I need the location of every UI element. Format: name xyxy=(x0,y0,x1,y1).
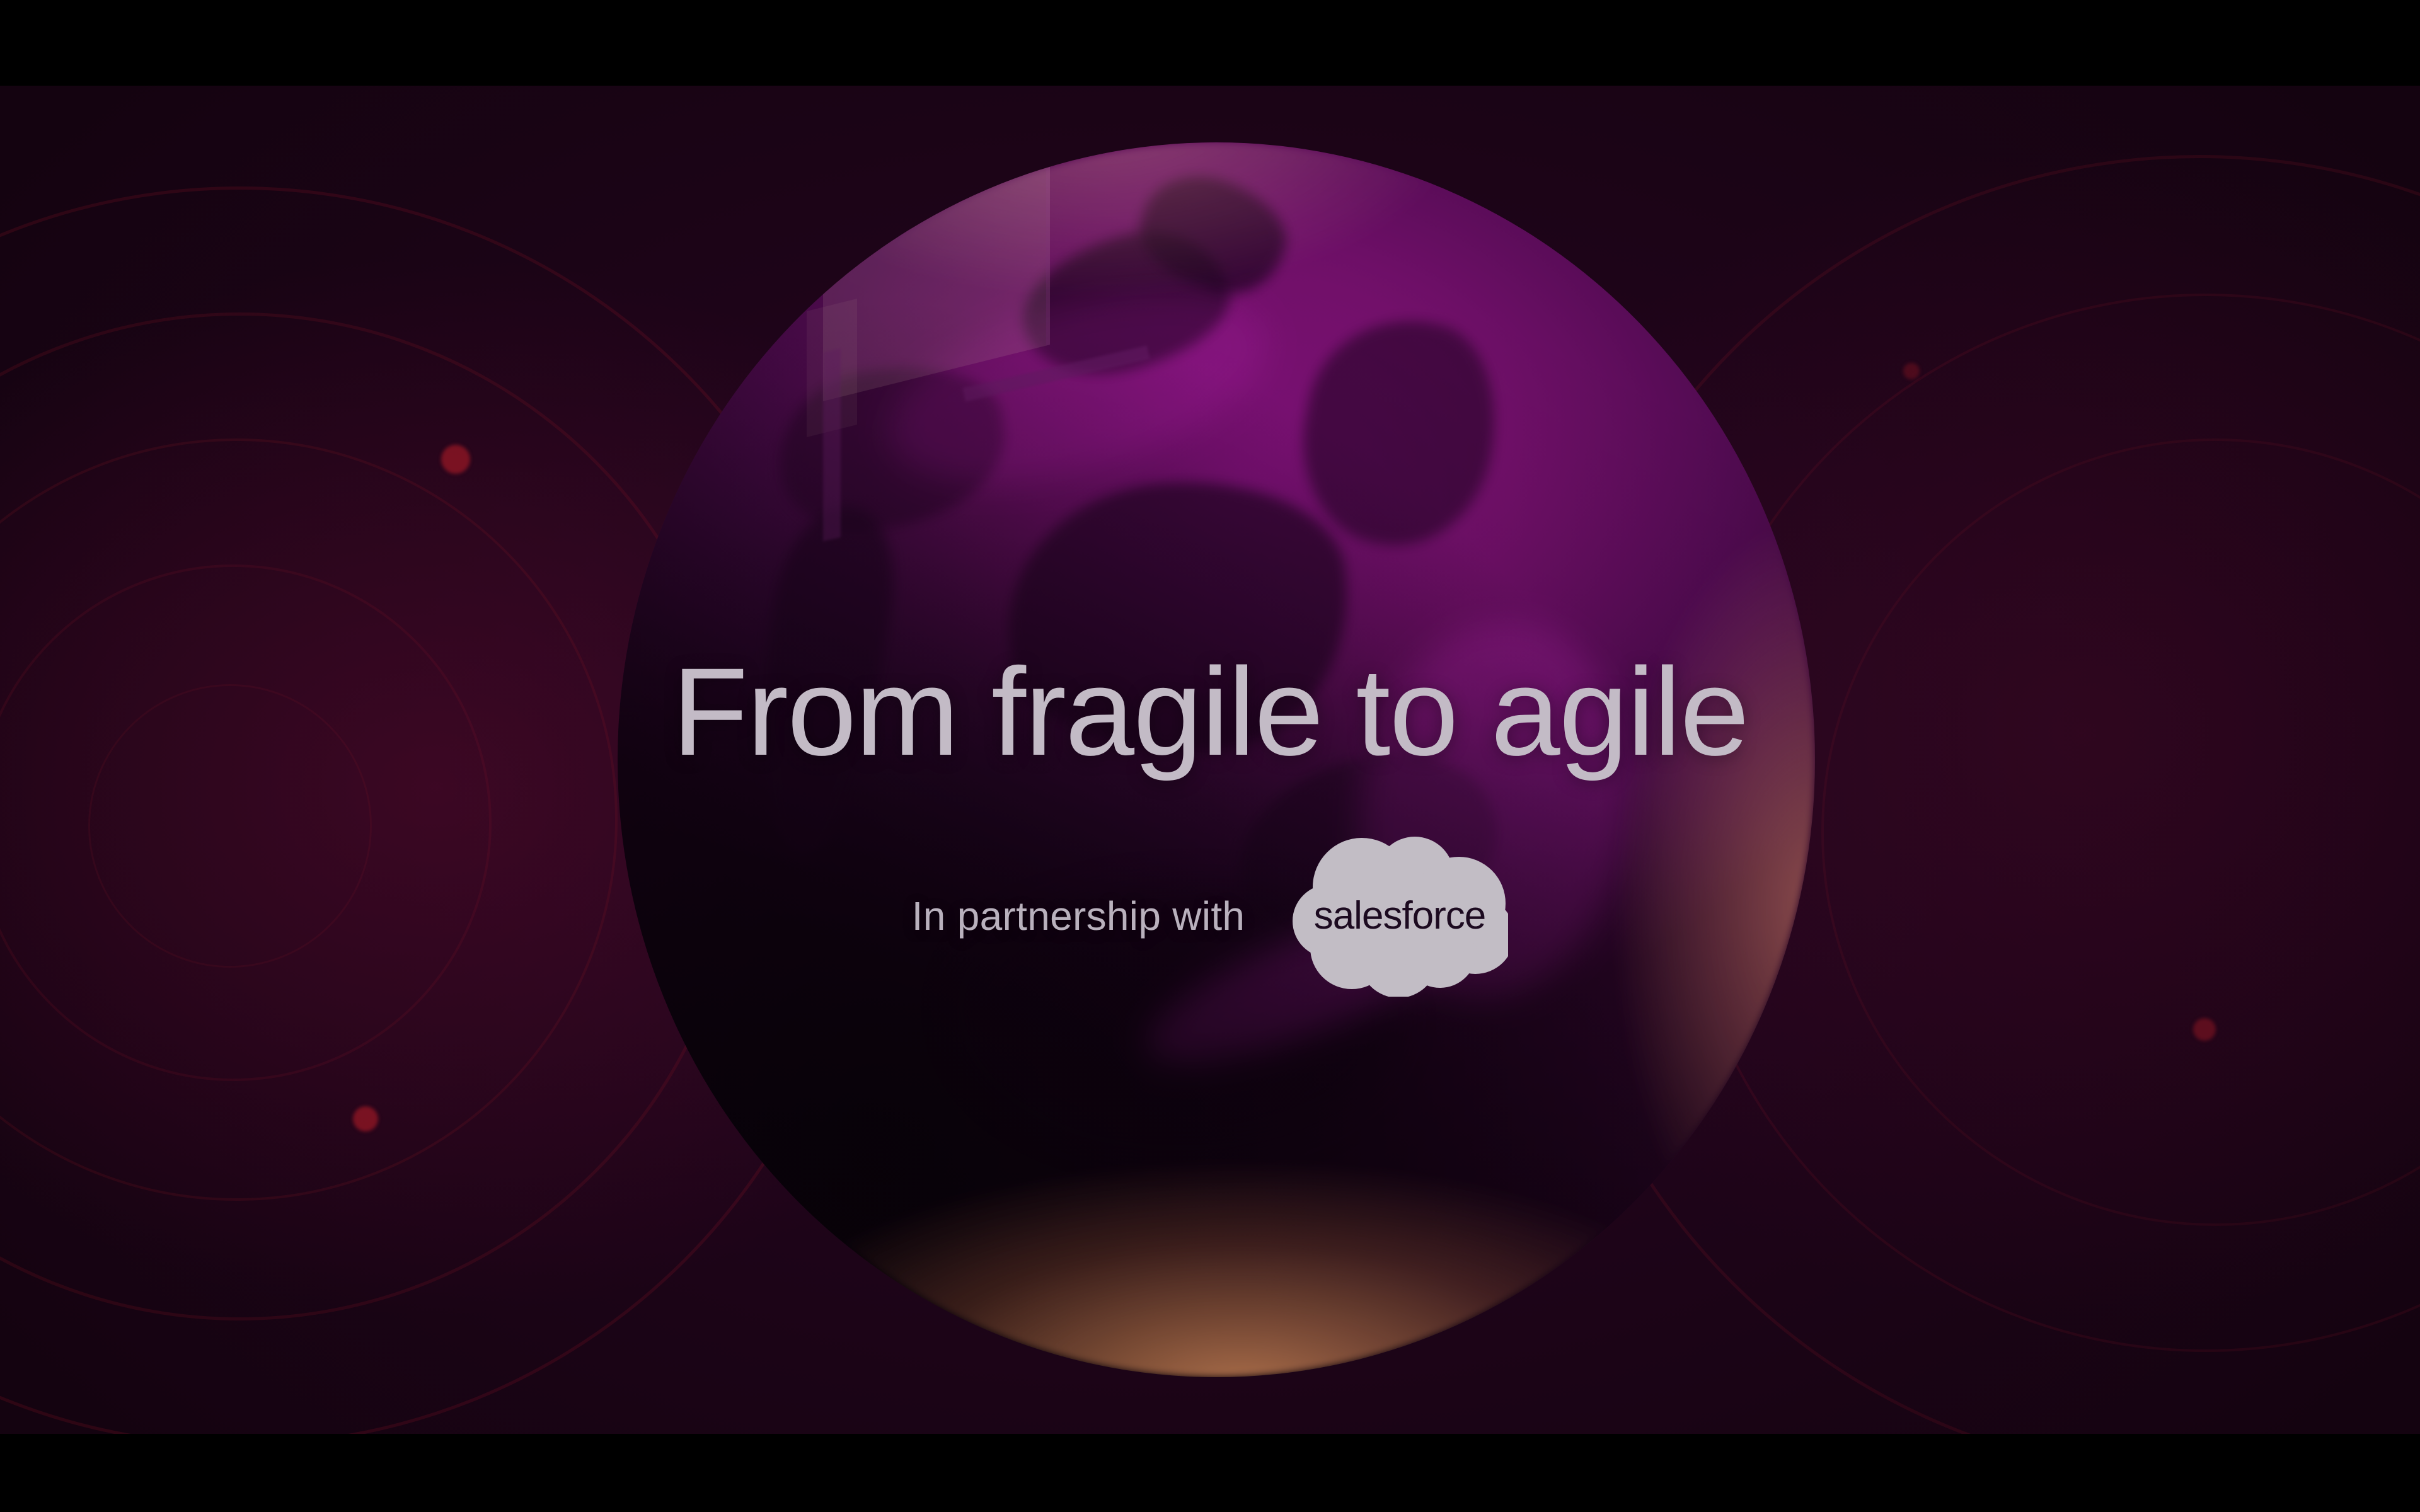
space-background xyxy=(0,86,2420,1434)
video-slide: From fragile to agile In partnership wit… xyxy=(0,0,2420,1512)
orbital-ring xyxy=(0,438,618,1201)
letterbox-bar-top xyxy=(0,0,2420,86)
orbit-dot xyxy=(353,1106,378,1131)
orbit-dot xyxy=(1903,363,1920,379)
orbital-ring xyxy=(0,564,492,1081)
orbit-dot xyxy=(2193,1018,2216,1041)
globe-sphere xyxy=(618,142,1815,1377)
globe-graphic xyxy=(618,142,1815,1377)
orbital-ring xyxy=(1821,438,2420,1226)
orbit-dot xyxy=(441,445,470,474)
letterbox-bar-bottom xyxy=(0,1434,2420,1512)
orbital-ring xyxy=(88,684,372,968)
globe-limb-highlight xyxy=(618,142,1815,1377)
